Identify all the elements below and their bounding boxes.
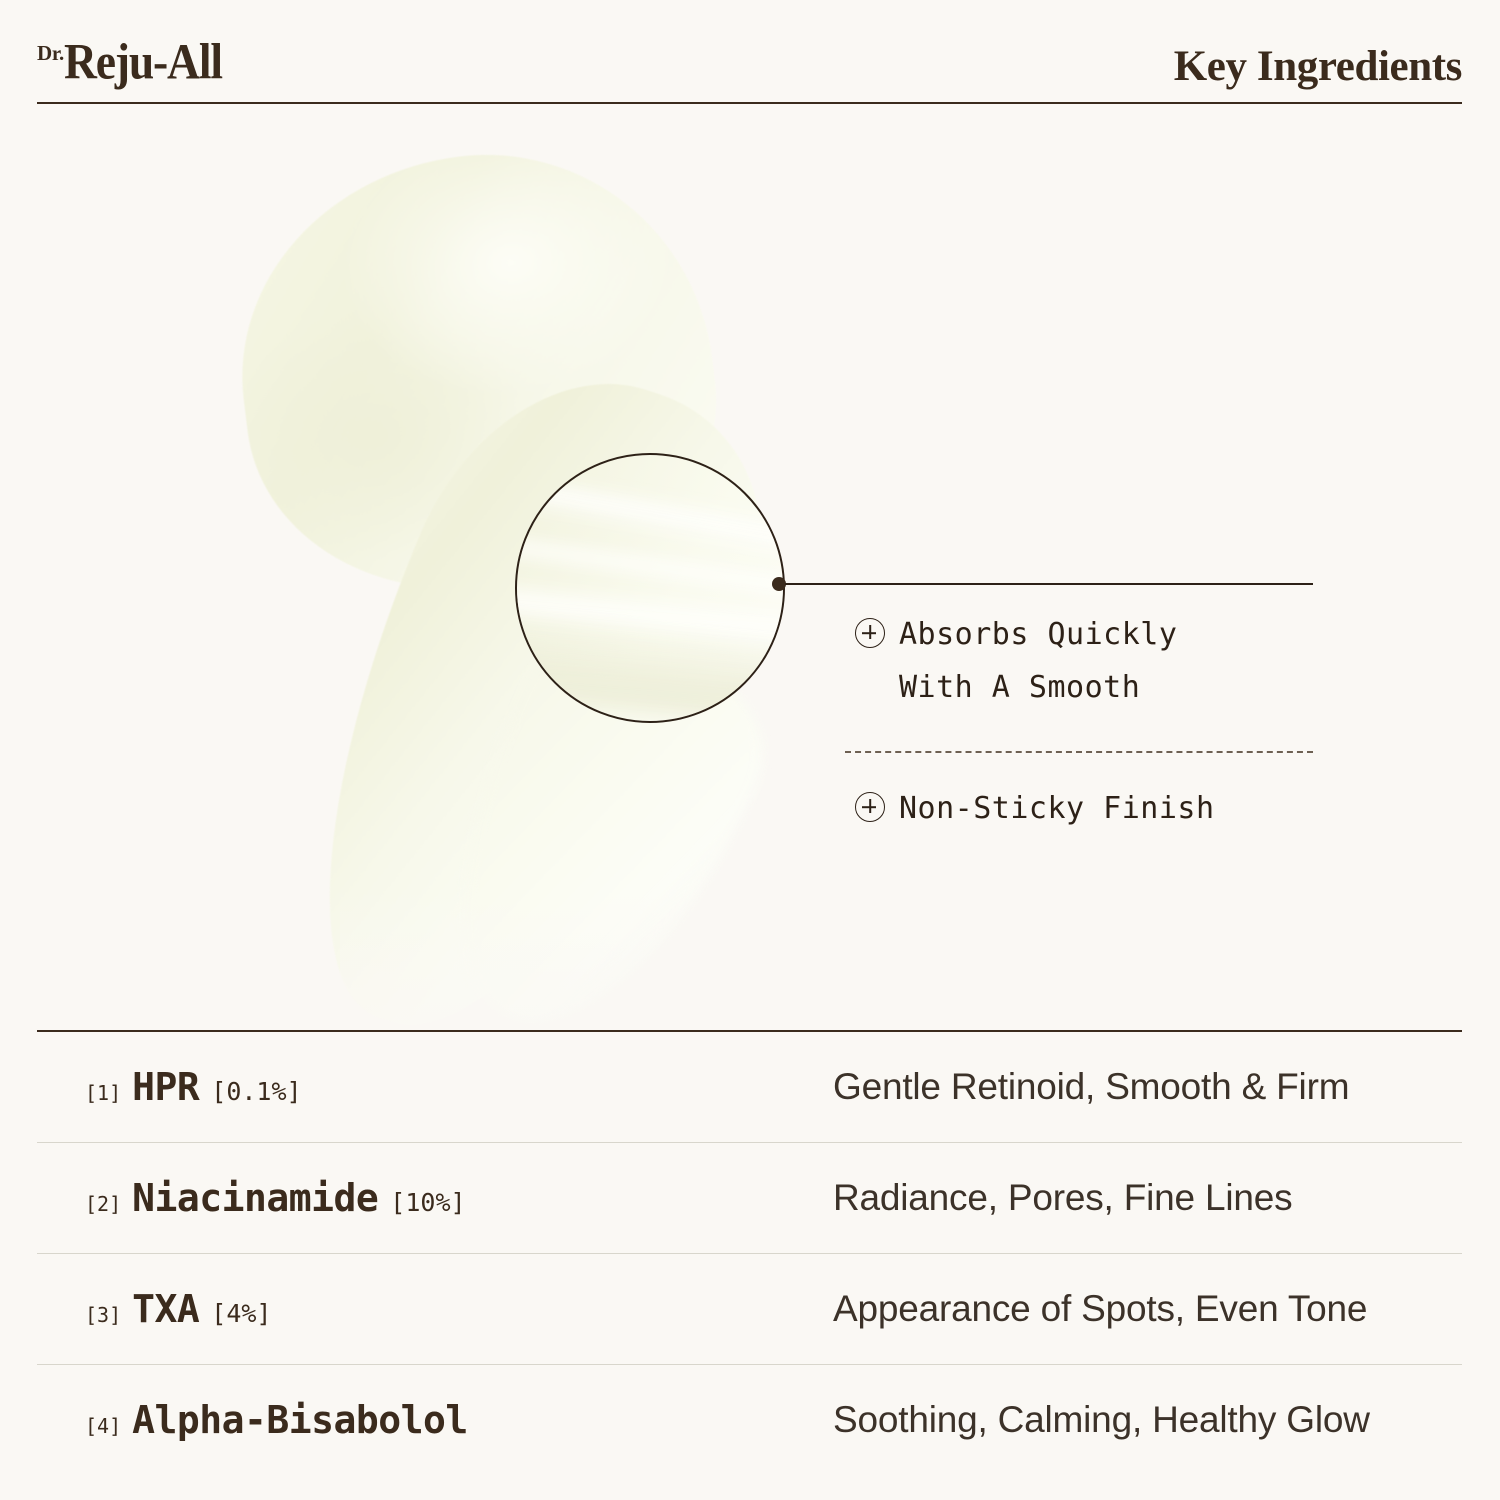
- callout-dotted-divider: [845, 751, 1313, 753]
- ingredient-percent: [10%]: [390, 1188, 465, 1217]
- ingredient-name-cell: [4] Alpha-Bisabolol: [37, 1398, 833, 1442]
- brand-logo-name: Reju-All: [64, 37, 222, 88]
- ingredient-description: Radiance, Pores, Fine Lines: [833, 1177, 1462, 1219]
- ingredient-name: Niacinamide: [132, 1176, 378, 1220]
- infographic-page: Dr. Reju-All Key Ingredients Absorb: [0, 0, 1500, 1500]
- ingredient-description: Gentle Retinoid, Smooth & Firm: [833, 1066, 1462, 1108]
- table-row: [4] Alpha-Bisabolol Soothing, Calming, H…: [37, 1365, 1462, 1475]
- table-row: [1] HPR [0.1%] Gentle Retinoid, Smooth &…: [37, 1032, 1462, 1143]
- callout-non-sticky-finish: Non-Sticky Finish: [855, 782, 1325, 835]
- ingredient-name: Alpha-Bisabolol: [132, 1398, 468, 1442]
- circled-plus-icon: [855, 618, 885, 648]
- brand-logo: Dr. Reju-All: [37, 41, 227, 88]
- leader-line-dot: [772, 577, 786, 591]
- callout-text: Absorbs Quickly With A Smooth: [899, 608, 1177, 715]
- ingredient-name: HPR: [132, 1065, 199, 1109]
- ingredient-description: Appearance of Spots, Even Tone: [833, 1288, 1462, 1330]
- callout-line-1: Non-Sticky Finish: [899, 791, 1215, 826]
- page-title: Key Ingredients: [1174, 45, 1462, 88]
- callout-item: Absorbs Quickly With A Smooth: [855, 608, 1325, 715]
- callout-item: Non-Sticky Finish: [855, 782, 1325, 835]
- ingredient-index: [4]: [85, 1414, 121, 1438]
- texture-magnifier-circle: [515, 453, 785, 723]
- circled-plus-icon: [855, 792, 885, 822]
- ingredient-percent: [4%]: [211, 1299, 271, 1328]
- ingredient-name: TXA: [132, 1287, 199, 1331]
- ingredients-table: [1] HPR [0.1%] Gentle Retinoid, Smooth &…: [37, 1030, 1462, 1475]
- table-row: [3] TXA [4%] Appearance of Spots, Even T…: [37, 1254, 1462, 1365]
- header-divider: [37, 102, 1462, 104]
- leader-line: [785, 583, 1313, 585]
- ingredient-name-cell: [1] HPR [0.1%]: [37, 1065, 833, 1109]
- hero-section: Absorbs Quickly With A Smooth Non-Sticky…: [0, 118, 1500, 1018]
- ingredient-description: Soothing, Calming, Healthy Glow: [833, 1399, 1462, 1441]
- callout-line-1: Absorbs Quickly: [899, 617, 1177, 652]
- page-header: Dr. Reju-All Key Ingredients: [37, 14, 1462, 92]
- ingredient-index: [2]: [85, 1192, 121, 1216]
- ingredient-name-cell: [2] Niacinamide [10%]: [37, 1176, 833, 1220]
- brand-logo-prefix: Dr.: [37, 43, 64, 64]
- callout-line-2: With A Smooth: [899, 670, 1140, 705]
- callout-absorbs-quickly: Absorbs Quickly With A Smooth: [855, 608, 1325, 715]
- ingredient-index: [1]: [85, 1081, 121, 1105]
- ingredient-name-cell: [3] TXA [4%]: [37, 1287, 833, 1331]
- ingredient-index: [3]: [85, 1303, 121, 1327]
- table-row: [2] Niacinamide [10%] Radiance, Pores, F…: [37, 1143, 1462, 1254]
- callout-text: Non-Sticky Finish: [899, 782, 1215, 835]
- ingredient-percent: [0.1%]: [211, 1077, 301, 1106]
